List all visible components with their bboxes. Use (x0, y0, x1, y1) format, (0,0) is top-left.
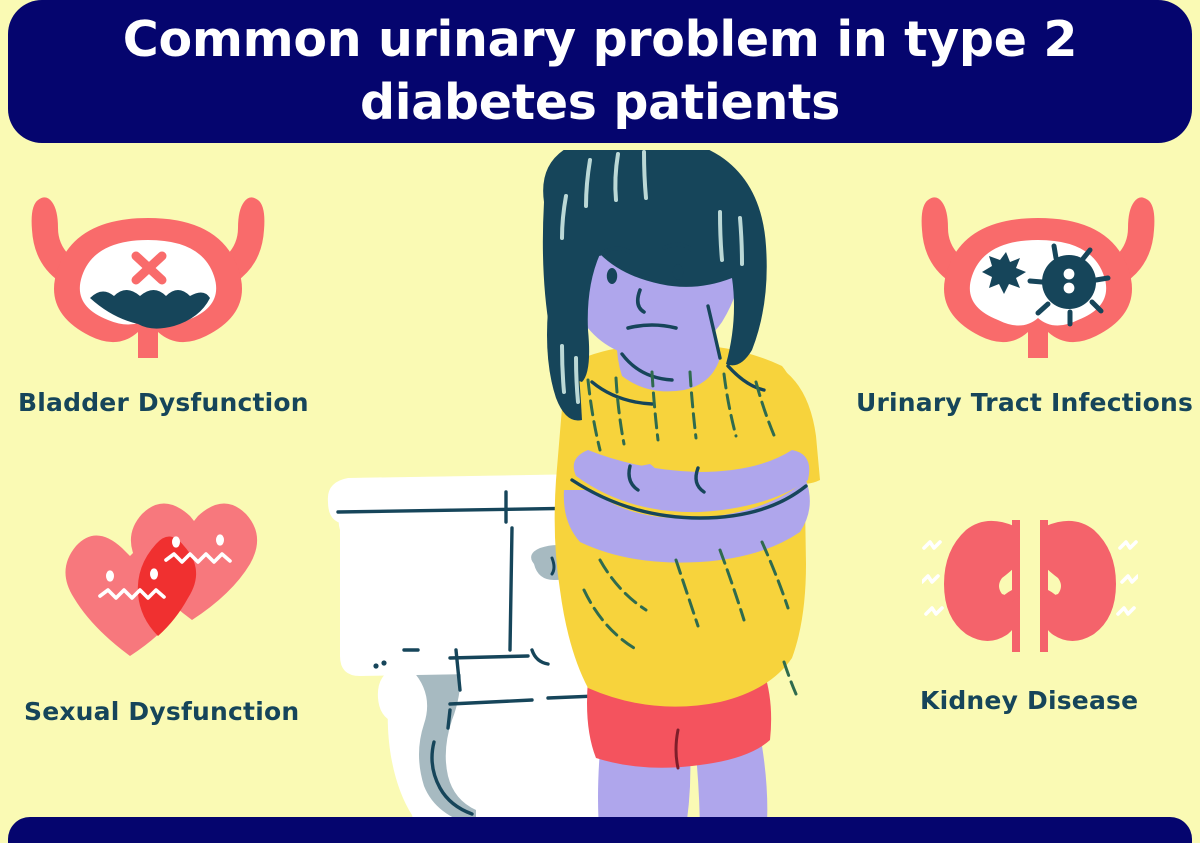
bladder-with-bacteria-icon (904, 186, 1172, 364)
feature-bladder-dysfunction[interactable]: Bladder Dysfunction (14, 186, 309, 417)
page-title: Common urinary problem in type 2 diabete… (123, 9, 1077, 134)
feature-label-kidney-disease: Kidney Disease (920, 686, 1138, 715)
kidneys-in-pain-icon (922, 508, 1138, 658)
infographic-canvas: Common urinary problem in type 2 diabete… (0, 0, 1200, 843)
title-banner: Common urinary problem in type 2 diabete… (8, 0, 1192, 143)
bladder-with-x-icon (14, 186, 282, 364)
feature-label-bladder-dysfunction: Bladder Dysfunction (18, 388, 309, 417)
woman-and-toilet-illustration (300, 150, 900, 840)
kidney-right (1040, 521, 1116, 641)
footer-bar (8, 817, 1192, 843)
central-illustration (300, 150, 900, 840)
feature-urinary-tract-infections[interactable]: Urinary Tract Infections (856, 186, 1193, 417)
kidney-left (944, 521, 1020, 641)
feature-kidney-disease[interactable]: Kidney Disease (900, 508, 1138, 715)
feature-label-urinary-tract-infections: Urinary Tract Infections (856, 388, 1193, 417)
two-sad-hearts-icon (60, 498, 270, 663)
feature-label-sexual-dysfunction: Sexual Dysfunction (24, 697, 299, 726)
feature-sexual-dysfunction[interactable]: Sexual Dysfunction (14, 498, 299, 726)
